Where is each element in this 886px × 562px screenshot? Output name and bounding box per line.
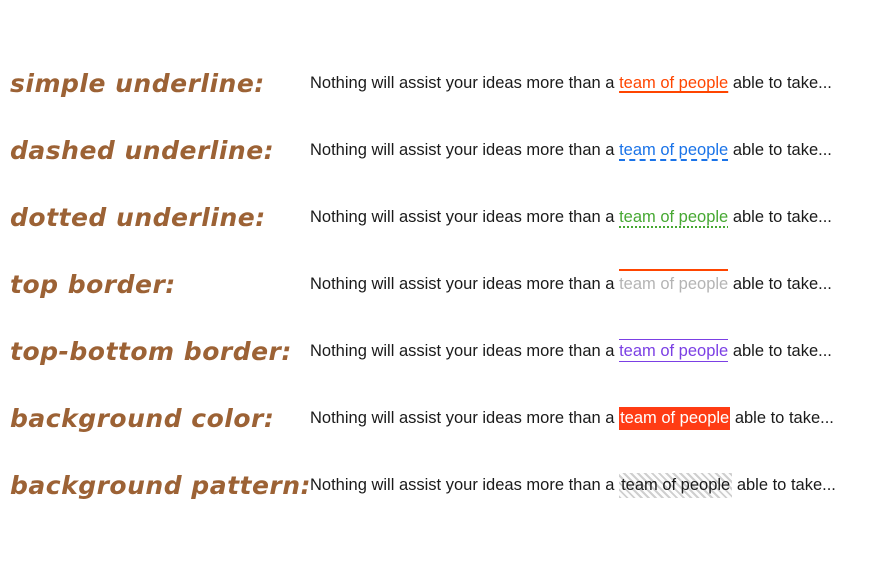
demo-row-simple-underline: simple underline: Nothing will assist yo… (0, 50, 886, 117)
sentence-prefix: Nothing will assist your ideas more than… (310, 275, 619, 293)
row-sentence-simple-underline: Nothing will assist your ideas more than… (310, 73, 886, 94)
demo-row-background-pattern: background pattern: Nothing will assist … (0, 452, 886, 519)
sentence-suffix: able to take... (728, 342, 832, 360)
demo-row-top-border: top border: Nothing will assist your ide… (0, 251, 886, 318)
row-sentence-background-pattern: Nothing will assist your ideas more than… (310, 475, 886, 496)
highlight-simple-underline: team of people (619, 74, 728, 92)
sentence-prefix: Nothing will assist your ideas more than… (310, 141, 619, 159)
demo-row-dashed-underline: dashed underline: Nothing will assist yo… (0, 117, 886, 184)
row-label-background-color: background color: (0, 404, 310, 433)
highlight-top-bottom-border: team of people (619, 339, 728, 362)
sentence-prefix: Nothing will assist your ideas more than… (310, 208, 619, 226)
demo-row-top-bottom-border: top-bottom border: Nothing will assist y… (0, 318, 886, 385)
sentence-prefix: Nothing will assist your ideas more than… (310, 476, 619, 494)
sentence-prefix: Nothing will assist your ideas more than… (310, 342, 619, 360)
row-label-top-bottom-border: top-bottom border: (0, 337, 310, 366)
row-sentence-dashed-underline: Nothing will assist your ideas more than… (310, 140, 886, 161)
row-label-background-pattern: background pattern: (0, 471, 310, 500)
row-sentence-top-bottom-border: Nothing will assist your ideas more than… (310, 341, 886, 362)
highlight-top-border: team of people (619, 269, 728, 293)
demo-row-background-color: background color: Nothing will assist yo… (0, 385, 886, 452)
highlight-dotted-underline: team of people (619, 208, 728, 226)
row-label-dotted-underline: dotted underline: (0, 203, 310, 232)
demo-row-dotted-underline: dotted underline: Nothing will assist yo… (0, 184, 886, 251)
row-label-dashed-underline: dashed underline: (0, 136, 310, 165)
row-sentence-background-color: Nothing will assist your ideas more than… (310, 408, 886, 429)
row-label-simple-underline: simple underline: (0, 69, 310, 98)
row-sentence-top-border: Nothing will assist your ideas more than… (310, 274, 886, 295)
highlight-dashed-underline: team of people (619, 141, 728, 159)
sentence-suffix: able to take... (732, 476, 836, 494)
sentence-prefix: Nothing will assist your ideas more than… (310, 409, 619, 427)
sentence-suffix: able to take... (728, 208, 832, 226)
sentence-suffix: able to take... (728, 74, 832, 92)
highlight-background-pattern: team of people (619, 473, 732, 498)
row-label-top-border: top border: (0, 270, 310, 299)
highlight-style-list: simple underline: Nothing will assist yo… (0, 0, 886, 562)
sentence-suffix: able to take... (728, 275, 832, 293)
sentence-prefix: Nothing will assist your ideas more than… (310, 74, 619, 92)
highlight-background-color: team of people (619, 407, 730, 430)
sentence-suffix: able to take... (728, 141, 832, 159)
row-sentence-dotted-underline: Nothing will assist your ideas more than… (310, 207, 886, 228)
sentence-suffix: able to take... (730, 409, 834, 427)
